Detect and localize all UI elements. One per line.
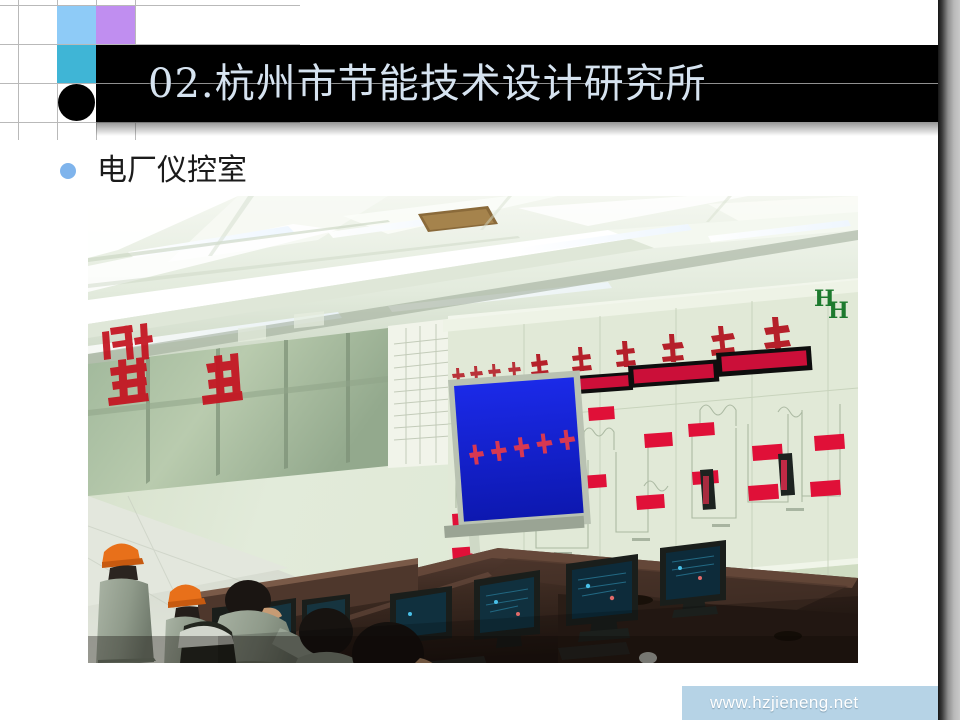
title-bar: 02.杭州市节能技术设计研究所: [96, 45, 938, 122]
photo-artwork: H H: [88, 196, 858, 663]
page-edge-shadow: [938, 0, 960, 720]
bullet-dot-icon: [60, 163, 76, 179]
bullet-item: 电厂仪控室: [60, 150, 247, 192]
grid-line-v: [18, 0, 19, 140]
deco-square-purple: [96, 6, 135, 44]
footer-bar: www.hzjieneng.net: [682, 686, 938, 720]
deco-square-teal: [57, 45, 96, 83]
grid-line-h: [0, 5, 300, 6]
title-bar-shadow: [96, 122, 938, 136]
deco-circle-black: [58, 84, 95, 121]
control-room-photo: H H: [88, 196, 858, 663]
presentation-slide: 02.杭州市节能技术设计研究所 电厂仪控室: [0, 0, 960, 720]
svg-text:H: H: [828, 298, 849, 324]
footer-website-url: www.hzjieneng.net: [710, 693, 859, 713]
page-title: 02.杭州市节能技术设计研究所: [148, 64, 707, 104]
deco-square-blue: [57, 6, 96, 44]
bullet-item-label: 电厂仪控室: [97, 156, 247, 186]
